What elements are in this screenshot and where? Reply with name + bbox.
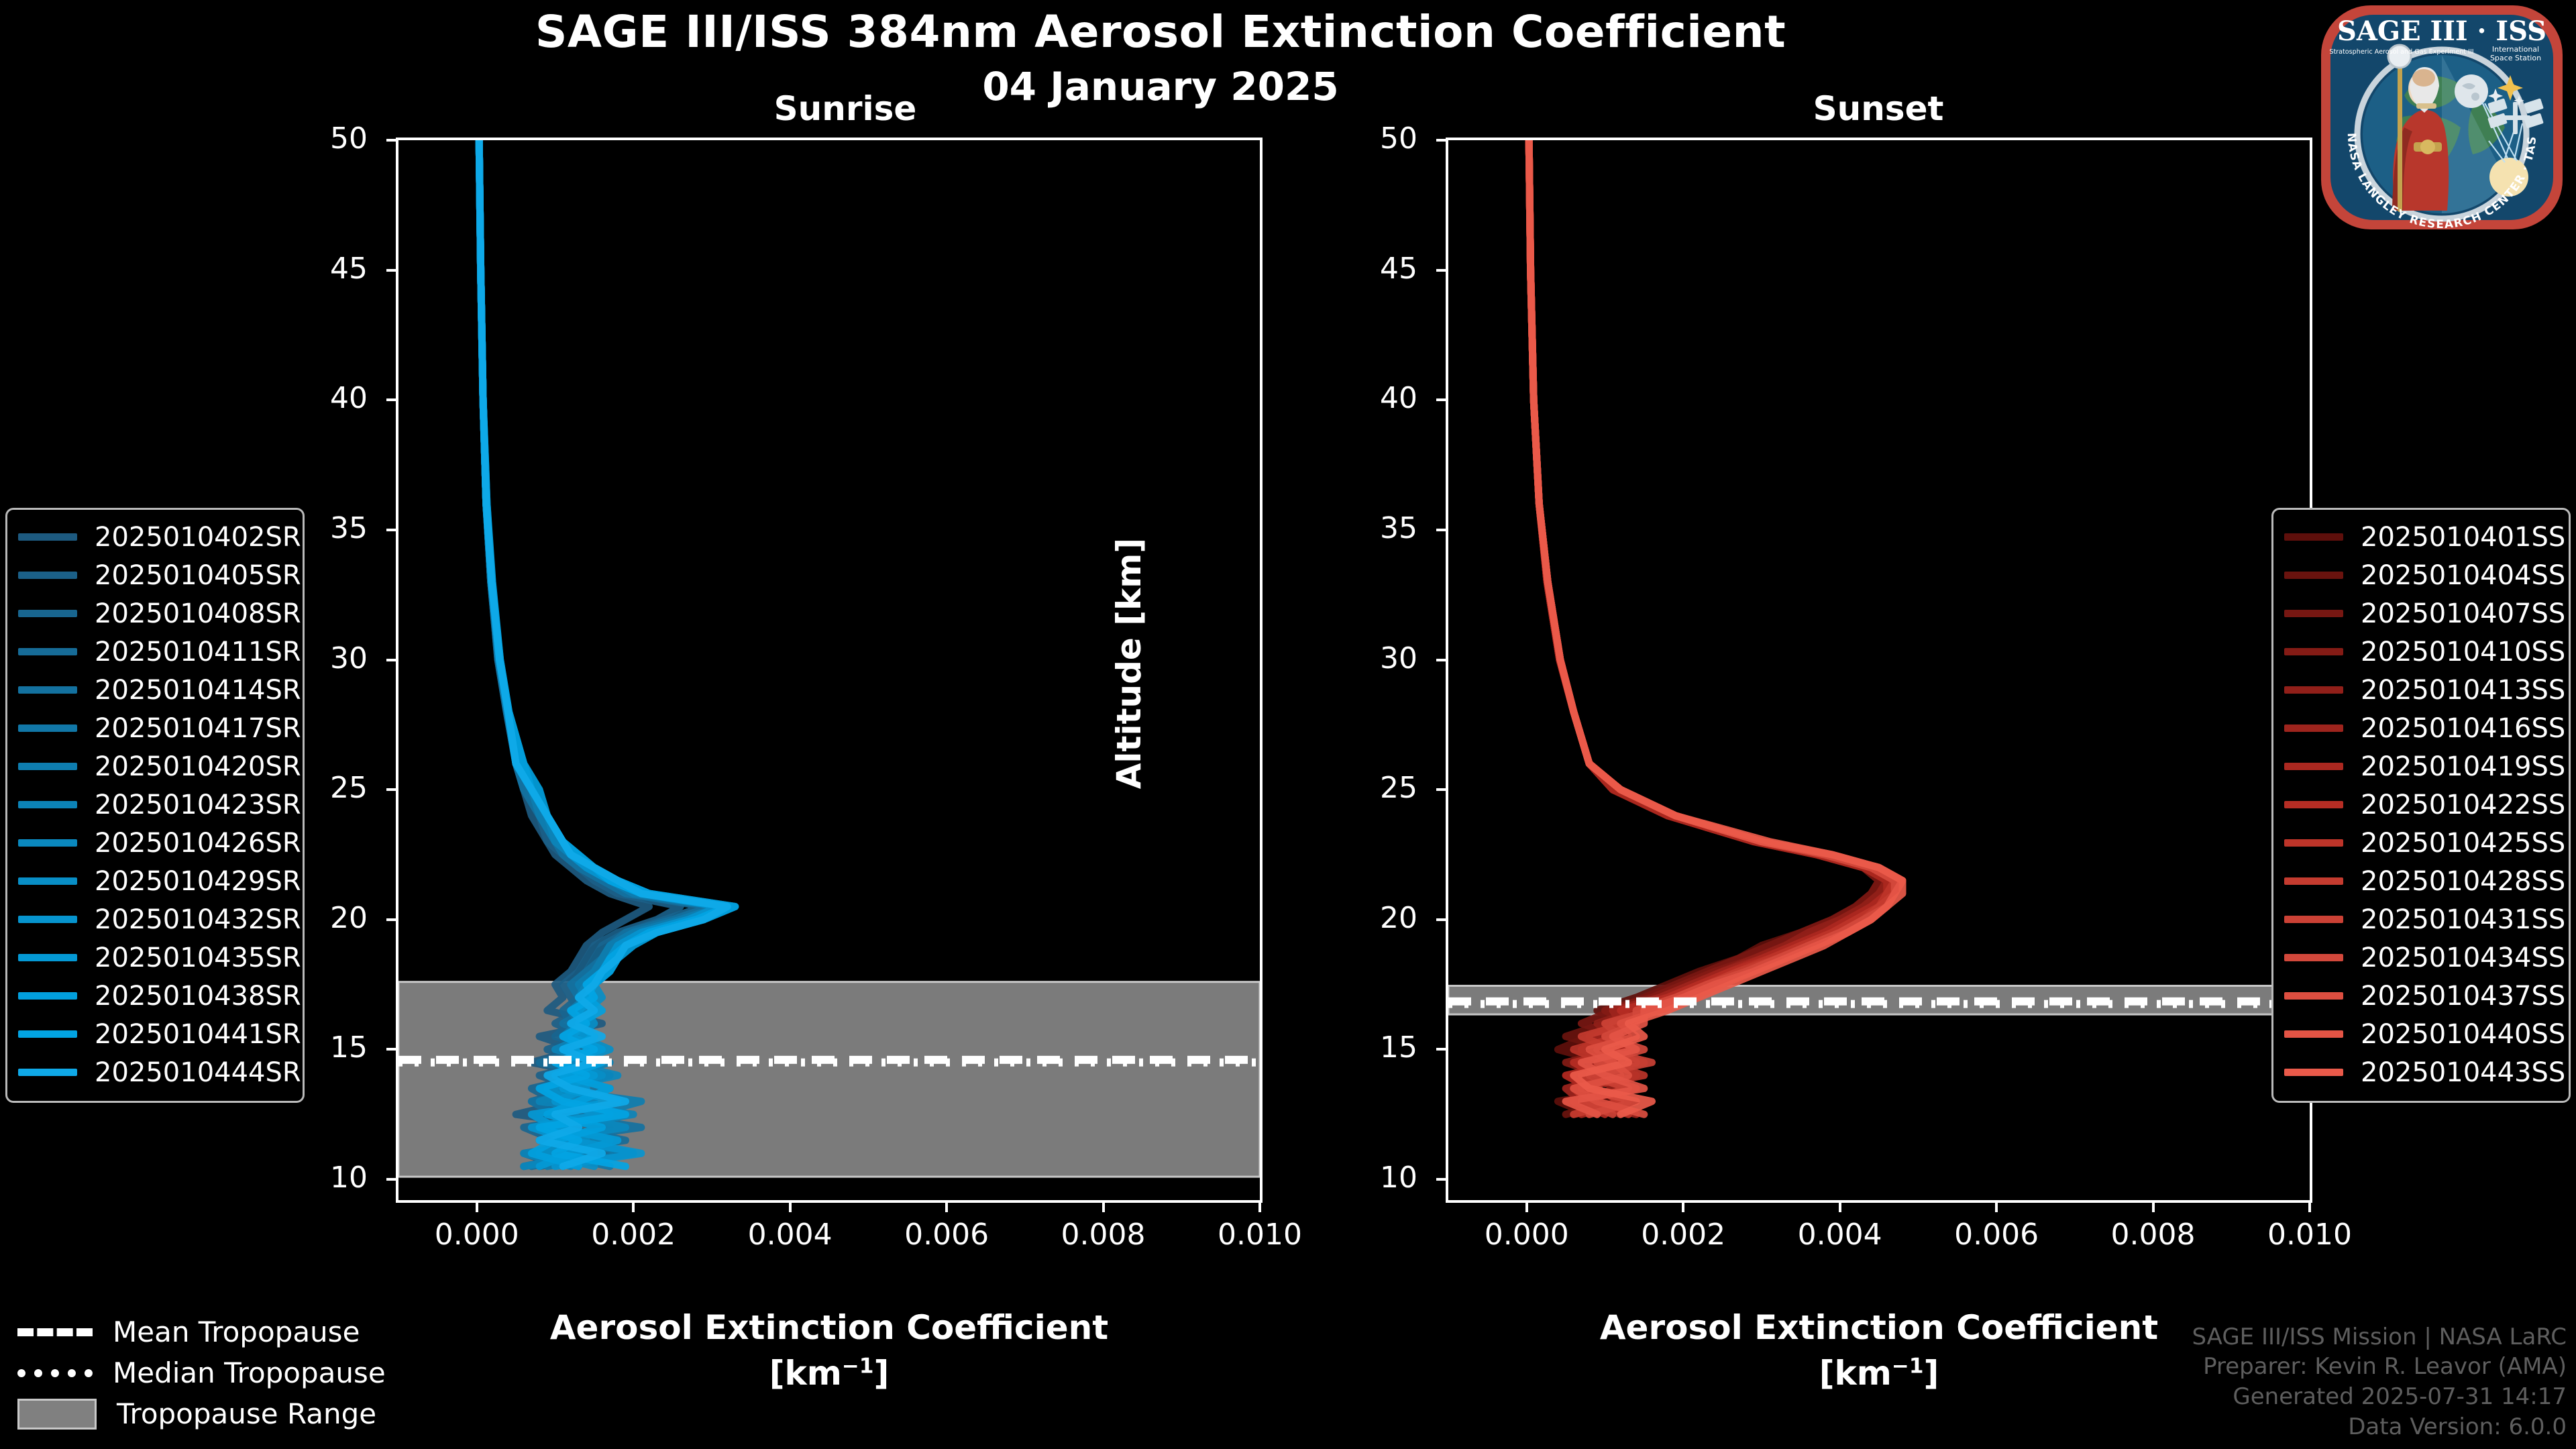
y-tickmark — [386, 529, 398, 531]
color-swatch-icon — [18, 839, 77, 847]
legend-label: 2025010402SR — [95, 522, 301, 553]
x-axis-label-units: [km−1] — [1443, 1351, 2315, 1397]
legend-label: 2025010411SR — [95, 637, 301, 667]
color-swatch-icon — [18, 954, 77, 961]
legend-label-tropopause-range: Tropopause Range — [117, 1397, 376, 1430]
color-swatch-icon — [2284, 992, 2343, 1000]
legend-item-2025010431SS[interactable]: 2025010431SS — [2284, 900, 2558, 938]
y-tick-label: 10 — [267, 1161, 368, 1195]
legend-label: 2025010435SR — [95, 943, 301, 973]
legend-label: 2025010432SR — [95, 904, 301, 935]
legend-item-2025010422SS[interactable]: 2025010422SS — [2284, 786, 2558, 824]
y-tick-label: 50 — [267, 121, 368, 156]
y-tickmark — [386, 918, 398, 921]
x-tickmark — [789, 1200, 792, 1212]
legend-label: 2025010428SS — [2361, 866, 2565, 897]
color-swatch-icon — [2284, 839, 2343, 847]
legend-item-2025010419SS[interactable]: 2025010419SS — [2284, 747, 2558, 786]
legend-label: 2025010417SR — [95, 713, 301, 744]
y-tickmark — [386, 139, 398, 142]
y-tickmark — [1436, 139, 1448, 142]
legend-sunset[interactable]: 2025010401SS2025010404SS2025010407SS2025… — [2271, 508, 2571, 1103]
y-tickmark — [1436, 269, 1448, 272]
legend-label: 2025010423SR — [95, 790, 301, 820]
x-tickmark — [1102, 1200, 1105, 1212]
tropopause-range-band — [398, 982, 1260, 1177]
y-tick-label: 35 — [1317, 511, 1417, 545]
legend-item-median-tropopause[interactable]: Median Tropopause — [17, 1352, 447, 1393]
legend-item-2025010411SR[interactable]: 2025010411SR — [18, 633, 292, 671]
x-tick-label: 0.004 — [1766, 1218, 1914, 1252]
legend-label: 2025010443SS — [2361, 1057, 2565, 1088]
y-tickmark — [386, 269, 398, 272]
credits-data-version: Data Version: 6.0.0 — [2192, 1412, 2567, 1442]
legend-label: 2025010438SR — [95, 981, 301, 1012]
color-swatch-icon — [2284, 1069, 2343, 1076]
profile-canvas-sunset — [1448, 140, 2310, 1200]
x-tickmark — [476, 1200, 478, 1212]
legend-item-2025010408SR[interactable]: 2025010408SR — [18, 594, 292, 633]
logo-title: SAGE III · ISS — [2337, 15, 2546, 47]
color-swatch-icon — [2284, 686, 2343, 694]
y-tick-label: 15 — [1317, 1030, 1417, 1065]
y-tickmark — [386, 1178, 398, 1181]
x-tickmark — [632, 1200, 635, 1212]
color-swatch-icon — [18, 1030, 77, 1038]
color-swatch-icon — [2284, 610, 2343, 617]
legend-label: 2025010422SS — [2361, 790, 2565, 820]
dotted-line-icon — [17, 1369, 93, 1377]
credits-generated: Generated 2025-07-31 14:17 — [2192, 1382, 2567, 1412]
x-tick-label: 0.008 — [2080, 1218, 2227, 1252]
credits-block: SAGE III/ISS Mission | NASA LaRC Prepare… — [2192, 1322, 2567, 1443]
color-swatch-icon — [18, 877, 77, 885]
y-tick-label: 50 — [1317, 121, 1417, 156]
color-swatch-icon — [2284, 801, 2343, 808]
legend-item-2025010429SR[interactable]: 2025010429SR — [18, 862, 292, 900]
legend-item-2025010410SS[interactable]: 2025010410SS — [2284, 633, 2558, 671]
y-tick-label: 20 — [1317, 901, 1417, 935]
color-swatch-icon — [2284, 724, 2343, 732]
color-swatch-icon — [18, 648, 77, 655]
color-swatch-icon — [18, 992, 77, 1000]
logo-subtitle-right-line1: International — [2492, 45, 2539, 54]
legend-item-2025010420SR[interactable]: 2025010420SR — [18, 747, 292, 786]
x-tick-label: 0.002 — [1609, 1218, 1757, 1252]
x-tickmark — [2152, 1200, 2155, 1212]
legend-item-mean-tropopause[interactable]: Mean Tropopause — [17, 1311, 447, 1352]
y-tickmark — [1436, 1048, 1448, 1051]
legend-item-tropopause-range[interactable]: Tropopause Range — [17, 1393, 447, 1434]
color-swatch-icon — [2284, 572, 2343, 579]
color-swatch-icon — [2284, 954, 2343, 961]
legend-label-mean-tropopause: Mean Tropopause — [113, 1316, 360, 1348]
legend-item-2025010428SS[interactable]: 2025010428SS — [2284, 862, 2558, 900]
legend-label: 2025010413SS — [2361, 675, 2565, 706]
legend-label: 2025010414SR — [95, 675, 301, 706]
legend-item-2025010443SS[interactable]: 2025010443SS — [2284, 1053, 2558, 1091]
legend-item-2025010417SR[interactable]: 2025010417SR — [18, 709, 292, 747]
y-tickmark — [386, 659, 398, 661]
dashed-line-icon — [17, 1328, 93, 1336]
legend-item-2025010444SR[interactable]: 2025010444SR — [18, 1053, 292, 1091]
legend-item-2025010432SR[interactable]: 2025010432SR — [18, 900, 292, 938]
legend-label: 2025010410SS — [2361, 637, 2565, 667]
x-tickmark — [1839, 1200, 1841, 1212]
y-tickmark — [1436, 788, 1448, 791]
x-axis-label-line1: Aerosol Extinction Coefficient — [393, 1305, 1265, 1351]
y-tick-label: 10 — [1317, 1161, 1417, 1195]
y-tickmark — [1436, 529, 1448, 531]
gray-swatch-icon — [17, 1399, 97, 1430]
y-tickmark — [1436, 918, 1448, 921]
color-swatch-icon — [2284, 916, 2343, 923]
page-title: SAGE III/ISS 384nm Aerosol Extinction Co… — [0, 9, 2321, 54]
legend-item-2025010425SS[interactable]: 2025010425SS — [2284, 824, 2558, 862]
y-tick-label: 25 — [1317, 771, 1417, 805]
x-tickmark — [2308, 1200, 2311, 1212]
legend-label: 2025010404SS — [2361, 560, 2565, 591]
logo-subtitle-left: Stratospheric Aerosol and Gas Experiment… — [2329, 48, 2473, 56]
legend-item-2025010434SS[interactable]: 2025010434SS — [2284, 938, 2558, 977]
legend-label: 2025010441SR — [95, 1019, 301, 1050]
y-tick-label: 45 — [1317, 252, 1417, 286]
color-swatch-icon — [2284, 648, 2343, 655]
x-axis-label-sunset: Aerosol Extinction Coefficient [km−1] — [1443, 1305, 2315, 1396]
x-axis-label-line1: Aerosol Extinction Coefficient — [1443, 1305, 2315, 1351]
x-tick-label: 0.008 — [1030, 1218, 1177, 1252]
panel-caption-sunrise: Sunrise — [704, 89, 986, 128]
legend-label: 2025010425SS — [2361, 828, 2565, 859]
legend-item-2025010416SS[interactable]: 2025010416SS — [2284, 709, 2558, 747]
legend-item-2025010404SS[interactable]: 2025010404SS — [2284, 556, 2558, 594]
y-tickmark — [386, 398, 398, 401]
legend-label: 2025010426SR — [95, 828, 301, 859]
logo-subtitle-right-line2: Space Station — [2490, 54, 2541, 62]
legend-item-2025010423SR[interactable]: 2025010423SR — [18, 786, 292, 824]
legend-label: 2025010419SS — [2361, 751, 2565, 782]
legend-label: 2025010444SR — [95, 1057, 301, 1088]
legend-item-2025010401SS[interactable]: 2025010401SS — [2284, 518, 2558, 556]
legend-label: 2025010429SR — [95, 866, 301, 897]
color-swatch-icon — [18, 533, 77, 541]
color-swatch-icon — [18, 1069, 77, 1076]
legend-item-2025010441SR[interactable]: 2025010441SR — [18, 1015, 292, 1053]
legend-item-2025010405SR[interactable]: 2025010405SR — [18, 556, 292, 594]
legend-item-2025010414SR[interactable]: 2025010414SR — [18, 671, 292, 709]
legend-label: 2025010431SS — [2361, 904, 2565, 935]
x-tick-label: 0.000 — [403, 1218, 551, 1252]
x-tick-label: 0.010 — [2236, 1218, 2383, 1252]
y-tick-label: 45 — [267, 252, 368, 286]
color-swatch-icon — [2284, 877, 2343, 885]
legend-label: 2025010437SS — [2361, 981, 2565, 1012]
x-tickmark — [1682, 1200, 1684, 1212]
y-tickmark — [1436, 659, 1448, 661]
x-tick-label: 0.002 — [559, 1218, 707, 1252]
logo-svg: SAGE III · ISS Stratospheric Aerosol and… — [2316, 3, 2568, 232]
legend-label: 2025010416SS — [2361, 713, 2565, 744]
color-swatch-icon — [18, 916, 77, 923]
y-axis-label-sunset: Altitude [km] — [1110, 409, 1148, 918]
color-swatch-icon — [18, 610, 77, 617]
y-tickmark — [386, 788, 398, 791]
legend-tropopause[interactable]: Mean Tropopause Median Tropopause Tropop… — [17, 1311, 447, 1434]
legend-label-median-tropopause: Median Tropopause — [113, 1356, 386, 1389]
color-swatch-icon — [18, 724, 77, 732]
profile-line-2025010401SS — [1529, 140, 1879, 1114]
legend-item-2025010438SR[interactable]: 2025010438SR — [18, 977, 292, 1015]
credits-preparer: Preparer: Kevin R. Leavor (AMA) — [2192, 1352, 2567, 1382]
color-swatch-icon — [2284, 1030, 2343, 1038]
y-tickmark — [386, 1048, 398, 1051]
legend-item-2025010426SR[interactable]: 2025010426SR — [18, 824, 292, 862]
x-axis-label-sunrise: Aerosol Extinction Coefficient [km−1] — [393, 1305, 1265, 1396]
legend-sunrise[interactable]: 2025010402SR2025010405SR2025010408SR2025… — [5, 508, 305, 1103]
panel-caption-sunset: Sunset — [1737, 89, 2019, 128]
legend-item-2025010435SR[interactable]: 2025010435SR — [18, 938, 292, 977]
x-tick-label: 0.000 — [1453, 1218, 1601, 1252]
color-swatch-icon — [2284, 533, 2343, 541]
x-tickmark — [1525, 1200, 1528, 1212]
legend-label: 2025010420SR — [95, 751, 301, 782]
color-swatch-icon — [18, 572, 77, 579]
legend-item-2025010413SS[interactable]: 2025010413SS — [2284, 671, 2558, 709]
y-tick-label: 40 — [267, 381, 368, 415]
plot-area-sunset[interactable] — [1446, 138, 2312, 1203]
x-tick-label: 0.006 — [1923, 1218, 2070, 1252]
y-tick-label: 30 — [1317, 641, 1417, 676]
legend-item-2025010407SS[interactable]: 2025010407SS — [2284, 594, 2558, 633]
x-tick-label: 0.010 — [1186, 1218, 1334, 1252]
credits-mission: SAGE III/ISS Mission | NASA LaRC — [2192, 1322, 2567, 1352]
x-axis-label-units: [km−1] — [393, 1351, 1265, 1397]
sage-iii-iss-mission-patch-logo: SAGE III · ISS Stratospheric Aerosol and… — [2316, 3, 2568, 232]
legend-label: 2025010440SS — [2361, 1019, 2565, 1050]
color-swatch-icon — [18, 686, 77, 694]
y-tick-label: 40 — [1317, 381, 1417, 415]
legend-item-2025010402SR[interactable]: 2025010402SR — [18, 518, 292, 556]
legend-label: 2025010401SS — [2361, 522, 2565, 553]
x-tick-label: 0.006 — [873, 1218, 1020, 1252]
y-tickmark — [1436, 398, 1448, 401]
legend-label: 2025010408SR — [95, 598, 301, 629]
x-tick-label: 0.004 — [716, 1218, 864, 1252]
legend-item-2025010440SS[interactable]: 2025010440SS — [2284, 1015, 2558, 1053]
y-tickmark — [1436, 1178, 1448, 1181]
legend-label: 2025010405SR — [95, 560, 301, 591]
color-swatch-icon — [2284, 763, 2343, 770]
x-tickmark — [1995, 1200, 1998, 1212]
color-swatch-icon — [18, 801, 77, 808]
legend-item-2025010437SS[interactable]: 2025010437SS — [2284, 977, 2558, 1015]
legend-label: 2025010434SS — [2361, 943, 2565, 973]
color-swatch-icon — [18, 763, 77, 770]
legend-label: 2025010407SS — [2361, 598, 2565, 629]
x-tickmark — [1258, 1200, 1261, 1212]
x-tickmark — [945, 1200, 948, 1212]
